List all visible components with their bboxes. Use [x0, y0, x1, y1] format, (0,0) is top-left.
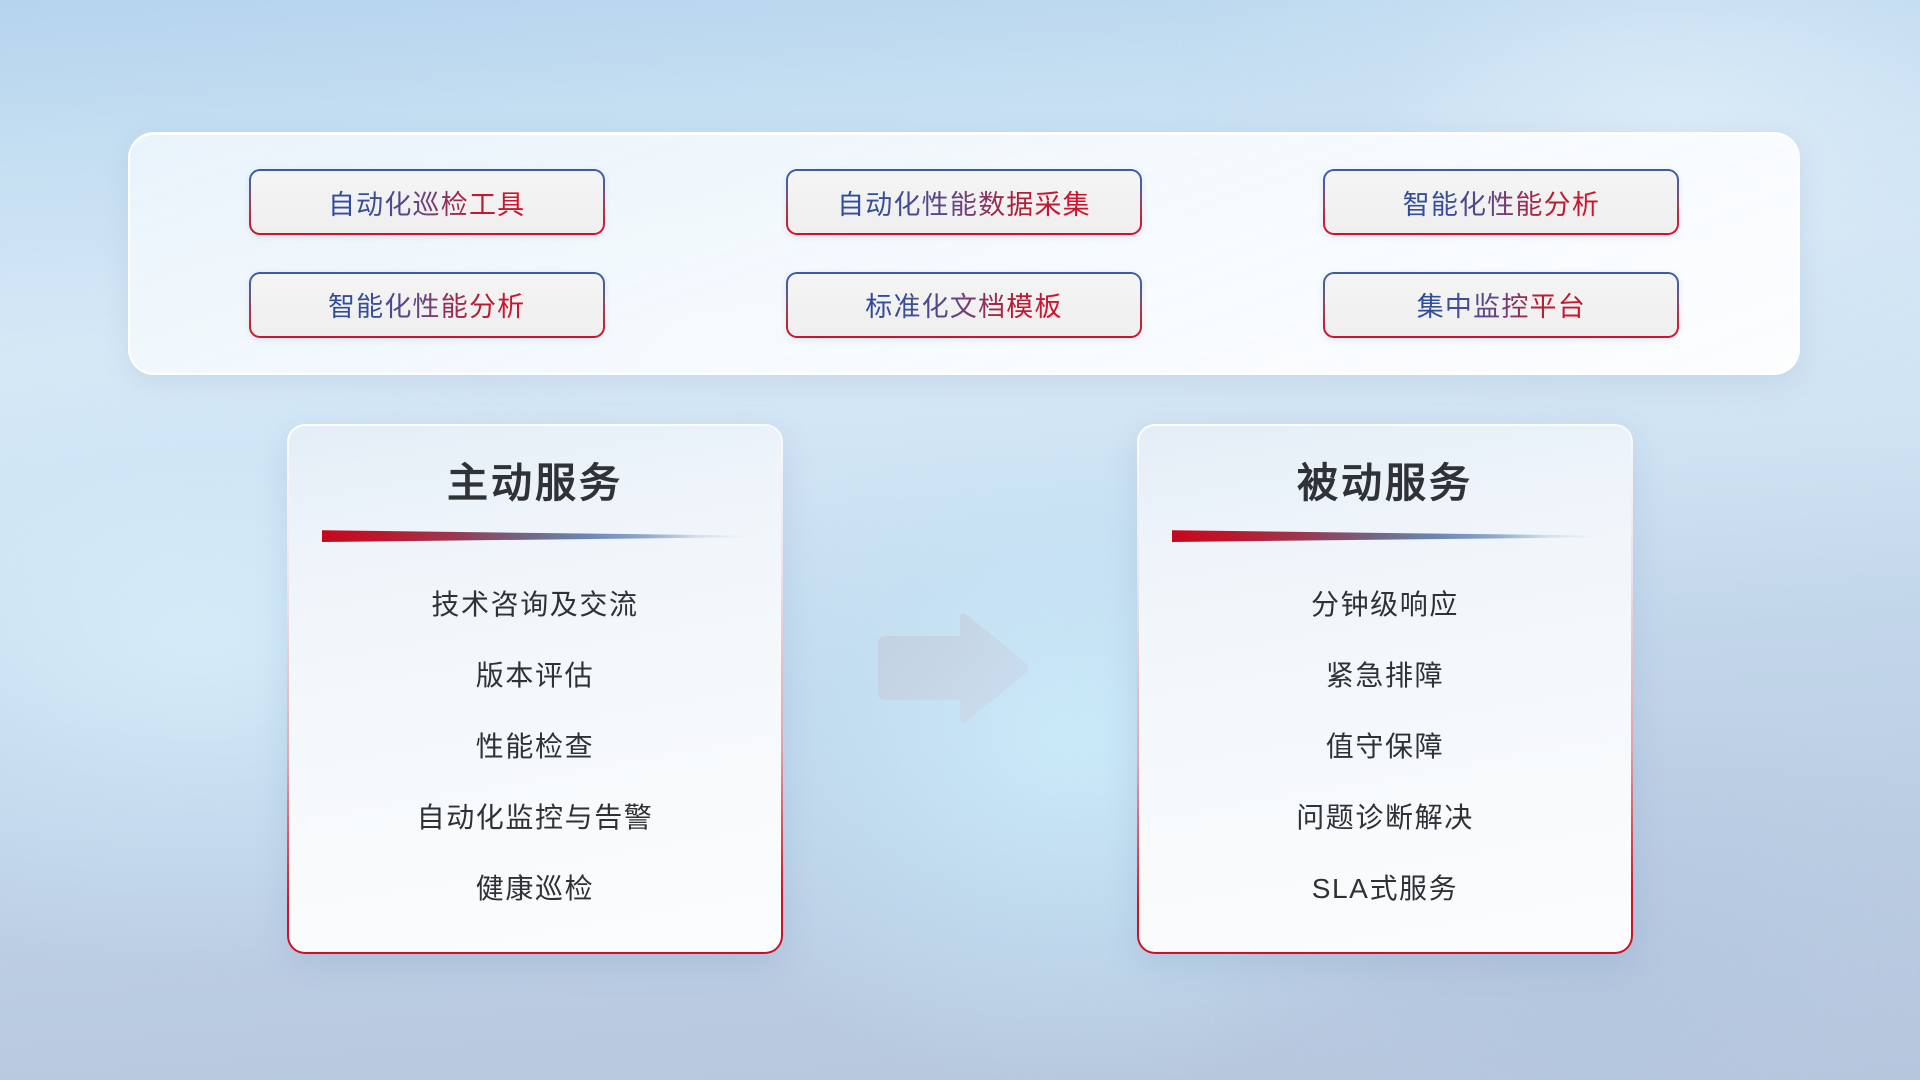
pill-surface: 集中监控平台 — [1325, 274, 1677, 336]
pill-label: 自动化巡检工具 — [328, 183, 525, 222]
service-card-reactive: 被动服务 分钟级响应 紧急排障 值守保障 问题诊断解决 SLA式服务 — [1137, 424, 1633, 954]
list-item[interactable]: 紧急排障 — [1326, 640, 1444, 711]
pill-label: 标准化文档模板 — [865, 285, 1062, 324]
list-item[interactable]: 分钟级响应 — [1311, 569, 1459, 640]
list-item[interactable]: 问题诊断解决 — [1296, 782, 1474, 853]
card-title: 被动服务 — [1297, 460, 1473, 507]
list-item[interactable]: 自动化监控与告警 — [417, 782, 654, 853]
capability-pill-central-monitor-platform[interactable]: 集中监控平台 — [1323, 272, 1679, 338]
arrow-right-icon — [872, 610, 1032, 728]
pill-label: 智能化性能分析 — [1403, 183, 1600, 222]
list-item[interactable]: 健康巡检 — [476, 853, 594, 924]
pill-label: 自动化性能数据采集 — [837, 183, 1091, 222]
list-item[interactable]: SLA式服务 — [1312, 853, 1459, 924]
capability-pill-standard-doc-template[interactable]: 标准化文档模板 — [786, 272, 1142, 338]
card-title: 主动服务 — [447, 460, 623, 507]
card-item-list: 技术咨询及交流 版本评估 性能检查 自动化监控与告警 健康巡检 — [289, 563, 781, 952]
list-item[interactable]: 版本评估 — [476, 640, 594, 711]
card-surface: 被动服务 分钟级响应 紧急排障 值守保障 问题诊断解决 SLA式服务 — [1139, 426, 1631, 952]
card-title-divider — [1172, 529, 1598, 543]
capability-pill-smart-perf-analysis-2[interactable]: 智能化性能分析 — [249, 272, 605, 338]
capability-pill-auto-perf-collection[interactable]: 自动化性能数据采集 — [786, 169, 1142, 235]
service-card-proactive: 主动服务 技术咨询及交流 版本评估 性能检查 自动化监控与告警 健康巡检 — [287, 424, 783, 954]
pill-surface: 智能化性能分析 — [251, 274, 603, 336]
pill-surface: 自动化性能数据采集 — [788, 171, 1140, 233]
pill-surface: 智能化性能分析 — [1325, 171, 1677, 233]
list-item[interactable]: 技术咨询及交流 — [431, 569, 638, 640]
list-item[interactable]: 值守保障 — [1326, 711, 1444, 782]
capability-pill-smart-perf-analysis-1[interactable]: 智能化性能分析 — [1323, 169, 1679, 235]
card-surface: 主动服务 技术咨询及交流 版本评估 性能检查 自动化监控与告警 健康巡检 — [289, 426, 781, 952]
card-item-list: 分钟级响应 紧急排障 值守保障 问题诊断解决 SLA式服务 — [1139, 563, 1631, 952]
pill-surface: 标准化文档模板 — [788, 274, 1140, 336]
pill-label: 智能化性能分析 — [328, 285, 525, 324]
pill-surface: 自动化巡检工具 — [251, 171, 603, 233]
capability-pill-auto-inspection-tool[interactable]: 自动化巡检工具 — [249, 169, 605, 235]
card-title-divider — [322, 529, 748, 543]
pill-label: 集中监控平台 — [1417, 285, 1586, 324]
capability-panel: 自动化巡检工具 自动化性能数据采集 智能化性能分析 智能化性能分析 标准化文档模… — [128, 132, 1800, 375]
list-item[interactable]: 性能检查 — [476, 711, 594, 782]
